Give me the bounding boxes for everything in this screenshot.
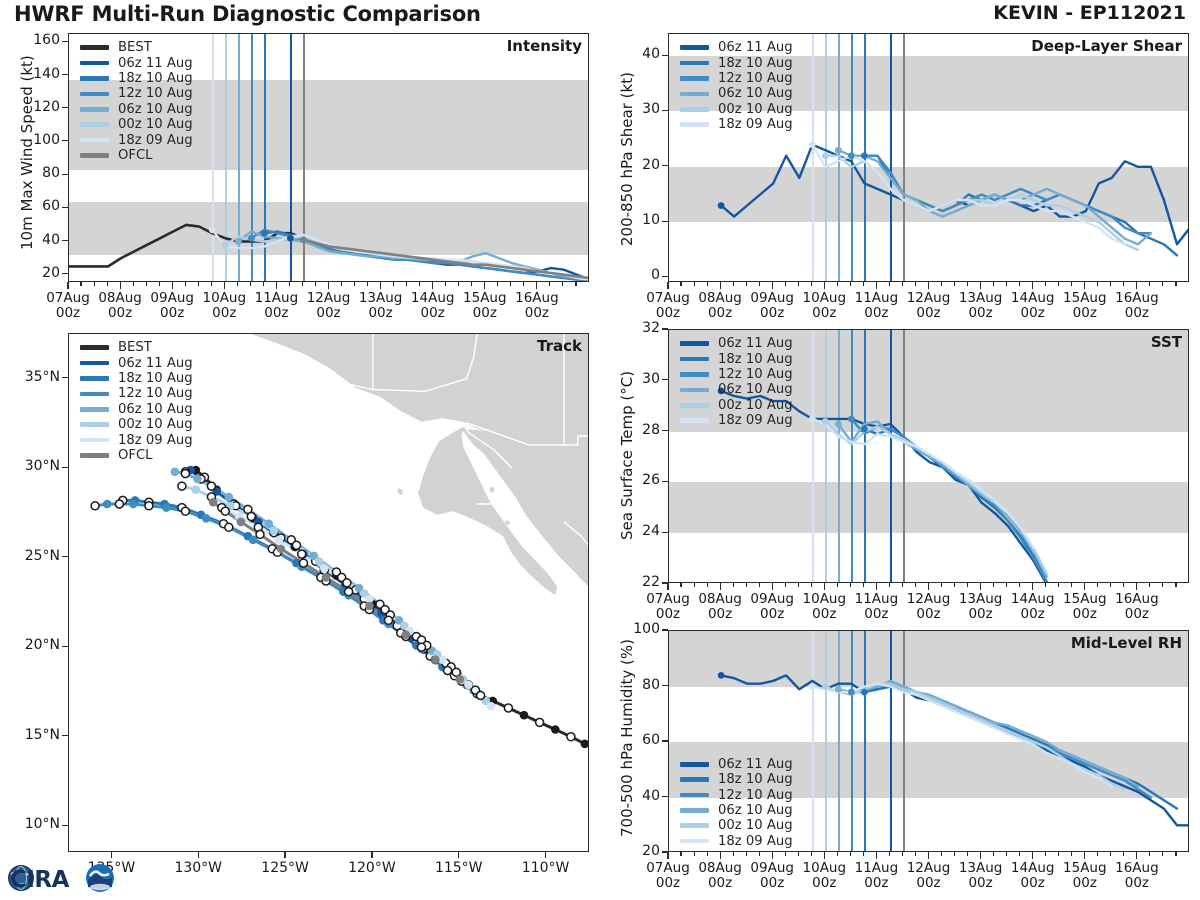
x-tick-mark xyxy=(720,852,721,859)
legend-label: 06z 11 Aug xyxy=(718,336,793,351)
x-tick-minor xyxy=(759,282,760,286)
init-marker xyxy=(822,418,829,425)
init-marker xyxy=(835,421,842,428)
x-tick-minor xyxy=(1162,852,1163,856)
legend-swatch xyxy=(80,453,109,458)
x-tick-mark xyxy=(224,282,225,289)
x-tick-minor xyxy=(497,282,498,286)
y-tick-mark xyxy=(62,41,68,42)
x-tick-minor xyxy=(1058,852,1059,856)
track-marker-open xyxy=(115,500,123,508)
legend-label: 06z 11 Aug xyxy=(718,757,793,772)
x-tick-minor xyxy=(1110,852,1111,856)
legend-item: 12z 10 Aug xyxy=(680,787,793,802)
track-marker-filled xyxy=(487,702,496,711)
y-tick-label: 20 xyxy=(10,265,60,281)
legend-swatch xyxy=(80,45,109,50)
x-tick-mark xyxy=(432,282,433,289)
x-tick-mark xyxy=(980,852,981,859)
init-marker xyxy=(861,152,868,159)
x-tick-minor xyxy=(1149,583,1150,587)
x-tick-minor xyxy=(1058,282,1059,286)
x-tick-minor xyxy=(850,852,851,856)
track-marker-filled xyxy=(315,557,324,566)
lat-tick-mark xyxy=(62,735,68,736)
init-marker xyxy=(822,683,829,690)
track-marker-filled xyxy=(320,564,329,573)
x-tick-minor xyxy=(1019,282,1020,286)
legend-item: 06z 11 Aug xyxy=(680,757,793,772)
y-tick-mark xyxy=(62,174,68,175)
x-tick-mark xyxy=(1032,583,1033,590)
track-marker-filled xyxy=(202,514,211,523)
x-tick-label: 16Aug00z xyxy=(1105,592,1169,622)
x-tick-minor xyxy=(915,852,916,856)
x-tick-minor xyxy=(1097,282,1098,286)
x-tick-minor xyxy=(419,282,420,286)
x-tick-day: 10Aug xyxy=(803,290,847,306)
x-tick-mark xyxy=(667,852,668,859)
legend-swatch xyxy=(680,418,709,423)
y-tick-mark xyxy=(662,796,668,797)
x-tick-minor xyxy=(759,583,760,587)
lon-tick-label: 125°W xyxy=(245,861,325,877)
x-tick-minor xyxy=(941,282,942,286)
x-tick-hour: 00z xyxy=(1125,305,1149,321)
x-tick-minor xyxy=(837,583,838,587)
legend-item: 18z 10 Aug xyxy=(80,371,193,386)
x-tick-minor xyxy=(1162,583,1163,587)
x-tick-minor xyxy=(1175,852,1176,856)
legend-item: 12z 10 Aug xyxy=(680,367,793,382)
x-tick-minor xyxy=(733,852,734,856)
track-marker-filled xyxy=(162,503,171,512)
track-marker-open xyxy=(207,482,215,490)
x-tick-minor xyxy=(967,852,968,856)
legend-label: 18z 10 Aug xyxy=(718,772,793,787)
x-tick-mark xyxy=(276,282,277,289)
x-tick-minor xyxy=(889,852,890,856)
x-tick-minor xyxy=(1045,852,1046,856)
track-marker-filled xyxy=(129,500,138,509)
x-tick-mark xyxy=(928,583,929,590)
x-tick-label: 16Aug00z xyxy=(1105,291,1169,321)
y-tick-label: 22 xyxy=(610,574,660,590)
init-marker xyxy=(861,689,868,696)
lat-tick-label: 20°N xyxy=(2,637,60,653)
x-tick-day: 08Aug xyxy=(698,290,742,306)
legend-item: 18z 09 Aug xyxy=(680,833,793,848)
legend-item: BEST xyxy=(80,340,193,355)
x-tick-hour: 00z xyxy=(812,875,836,891)
x-tick-hour: 00z xyxy=(1021,606,1045,622)
y-tick-mark xyxy=(62,240,68,241)
x-tick-hour: 00z xyxy=(968,305,992,321)
track-marker-filled xyxy=(192,485,201,494)
y-axis-label-shear: 200-850 hPa Shear (kt) xyxy=(618,72,636,246)
x-tick-mark xyxy=(876,852,877,859)
y-tick-mark xyxy=(662,328,668,329)
legend-label: 06z 10 Aug xyxy=(118,102,193,117)
x-tick-minor xyxy=(185,282,186,286)
track-marker-open xyxy=(477,692,485,700)
x-tick-day: 07Aug xyxy=(646,860,690,876)
x-tick-minor xyxy=(1110,583,1111,587)
init-marker xyxy=(861,426,868,433)
x-tick-day: 16Aug xyxy=(1115,290,1159,306)
x-tick-minor xyxy=(1110,282,1111,286)
x-tick-day: 13Aug xyxy=(359,290,403,306)
legend-item: BEST xyxy=(80,40,193,55)
legend-label: 06z 11 Aug xyxy=(118,356,193,371)
track-marker-open xyxy=(536,718,544,726)
legend-label: 18z 10 Aug xyxy=(718,56,793,71)
legend-label: 06z 11 Aug xyxy=(118,56,193,71)
track-marker-filled xyxy=(464,681,473,690)
x-tick-hour: 00z xyxy=(1125,875,1149,891)
x-tick-minor xyxy=(211,282,212,286)
init-marker xyxy=(835,686,842,693)
x-tick-minor xyxy=(733,583,734,587)
track-marker-open xyxy=(225,523,233,531)
track-marker-filled xyxy=(171,468,180,477)
lat-tick-mark xyxy=(62,377,68,378)
x-tick-mark xyxy=(720,282,721,289)
track-marker-open xyxy=(343,579,351,587)
x-tick-minor xyxy=(1019,852,1020,856)
init-marker xyxy=(848,152,855,159)
x-tick-minor xyxy=(863,852,864,856)
x-tick-minor xyxy=(94,282,95,286)
x-tick-hour: 00z xyxy=(916,875,940,891)
legend-item: 06z 11 Aug xyxy=(80,355,193,370)
track-marker-open xyxy=(345,588,353,596)
x-tick-hour: 00z xyxy=(160,305,184,321)
series-06z-11-aug xyxy=(721,145,1189,245)
y-tick-mark xyxy=(662,740,668,741)
init-marker xyxy=(848,689,855,696)
x-tick-minor xyxy=(1058,583,1059,587)
x-tick-mark xyxy=(67,282,68,289)
legend-swatch xyxy=(680,403,709,408)
y-tick-label: 100 xyxy=(610,621,660,637)
legend-item: 06z 10 Aug xyxy=(680,803,793,818)
x-tick-mark xyxy=(536,282,537,289)
y-tick-mark xyxy=(662,110,668,111)
legend-label: 18z 09 Aug xyxy=(718,413,793,428)
init-marker xyxy=(718,202,725,209)
x-tick-minor xyxy=(863,583,864,587)
lon-tick-mark xyxy=(458,852,459,858)
legend-item: 18z 09 Aug xyxy=(680,413,793,428)
x-tick-minor xyxy=(746,583,747,587)
init-marker xyxy=(287,235,294,242)
x-tick-mark xyxy=(1032,282,1033,289)
init-marker xyxy=(209,226,216,233)
x-tick-hour: 00z xyxy=(760,606,784,622)
legend-item: 00z 10 Aug xyxy=(680,398,793,413)
legend-label: 06z 10 Aug xyxy=(718,86,793,101)
legend-item: 12z 10 Aug xyxy=(680,71,793,86)
x-tick-day: 14Aug xyxy=(1011,591,1055,607)
series-18z-10-aug xyxy=(864,429,1046,581)
x-tick-hour: 00z xyxy=(968,875,992,891)
legend-item: 00z 10 Aug xyxy=(680,818,793,833)
series-18z-09-aug xyxy=(812,419,1033,549)
x-tick-mark xyxy=(980,282,981,289)
legend-swatch xyxy=(680,762,709,767)
x-tick-minor xyxy=(523,282,524,286)
legend-item: 06z 11 Aug xyxy=(680,40,793,55)
x-tick-minor xyxy=(954,852,955,856)
x-tick-hour: 00z xyxy=(1021,305,1045,321)
y-tick-mark xyxy=(62,273,68,274)
x-tick-minor xyxy=(941,583,942,587)
x-tick-mark xyxy=(876,282,877,289)
lat-tick-mark xyxy=(62,556,68,557)
lon-tick-label: 120°W xyxy=(332,861,412,877)
legend-label: 18z 10 Aug xyxy=(118,371,193,386)
track-marker-filled xyxy=(402,630,411,639)
legend-swatch xyxy=(80,76,109,81)
legend-item: 18z 09 Aug xyxy=(80,132,193,147)
x-tick-mark xyxy=(1084,583,1085,590)
legend-item: OFCL xyxy=(80,148,193,163)
x-tick-hour: 00z xyxy=(1021,875,1045,891)
x-tick-day: 08Aug xyxy=(698,860,742,876)
track-marker-filled xyxy=(581,740,590,749)
track-marker-filled xyxy=(520,711,529,720)
lon-tick-mark xyxy=(545,852,546,858)
series-06z-10-aug xyxy=(838,421,1046,576)
x-tick-minor xyxy=(863,282,864,286)
x-tick-minor xyxy=(562,282,563,286)
track-marker-open xyxy=(385,616,393,624)
y-tick-mark xyxy=(662,276,668,277)
x-tick-label: 16Aug00z xyxy=(1105,861,1169,891)
x-tick-mark xyxy=(1136,583,1137,590)
legend-item: 06z 10 Aug xyxy=(80,102,193,117)
x-tick-minor xyxy=(680,282,681,286)
legend-label: 06z 11 Aug xyxy=(718,40,793,55)
series-12z-10-aug xyxy=(851,419,1046,582)
x-tick-minor xyxy=(250,282,251,286)
init-marker xyxy=(300,236,307,243)
x-tick-minor xyxy=(785,852,786,856)
x-tick-minor xyxy=(798,583,799,587)
x-tick-minor xyxy=(1045,282,1046,286)
init-marker xyxy=(718,672,725,679)
legend-swatch xyxy=(680,839,709,844)
y-tick-mark xyxy=(662,481,668,482)
x-tick-minor xyxy=(1071,583,1072,587)
x-tick-minor xyxy=(1149,282,1150,286)
cira-badge-icon xyxy=(86,864,114,892)
x-tick-minor xyxy=(837,852,838,856)
x-tick-minor xyxy=(694,583,695,587)
x-tick-minor xyxy=(889,282,890,286)
track-marker-open xyxy=(145,502,153,510)
x-tick-minor xyxy=(1097,583,1098,587)
legend-item: 00z 10 Aug xyxy=(80,417,193,432)
track-marker-filled xyxy=(237,518,246,527)
legend-swatch xyxy=(680,107,709,112)
x-tick-hour: 00z xyxy=(812,606,836,622)
lat-tick-label: 35°N xyxy=(2,369,60,385)
x-tick-day: 12Aug xyxy=(907,591,951,607)
track-marker-open xyxy=(452,668,460,676)
x-tick-minor xyxy=(107,282,108,286)
track-marker-filled xyxy=(275,536,284,545)
x-tick-label: 16Aug00z xyxy=(505,291,569,321)
track-marker-filled xyxy=(322,573,331,582)
x-tick-minor xyxy=(785,583,786,587)
track-marker-filled xyxy=(193,475,202,484)
track-marker-filled xyxy=(209,498,218,507)
x-tick-hour: 00z xyxy=(1125,606,1149,622)
legend-swatch xyxy=(80,438,109,443)
x-tick-mark xyxy=(772,852,773,859)
x-tick-mark xyxy=(824,583,825,590)
x-tick-minor xyxy=(889,583,890,587)
x-tick-minor xyxy=(80,282,81,286)
x-tick-day: 14Aug xyxy=(1011,860,1055,876)
lon-tick-mark xyxy=(198,852,199,858)
lat-tick-label: 15°N xyxy=(2,727,60,743)
x-tick-day: 16Aug xyxy=(1115,860,1159,876)
cira-logo: CIRA xyxy=(4,856,122,898)
track-marker-open xyxy=(181,507,189,515)
legend-item: 18z 10 Aug xyxy=(680,772,793,787)
x-tick-day: 08Aug xyxy=(698,591,742,607)
x-tick-minor xyxy=(967,282,968,286)
x-tick-minor xyxy=(471,282,472,286)
x-tick-hour: 00z xyxy=(656,606,680,622)
x-tick-mark xyxy=(928,282,929,289)
x-tick-minor xyxy=(707,852,708,856)
lat-tick-label: 10°N xyxy=(2,816,60,832)
x-tick-day: 09Aug xyxy=(150,290,194,306)
x-tick-day: 16Aug xyxy=(515,290,559,306)
lon-tick-mark xyxy=(284,852,285,858)
track-marker-open xyxy=(504,704,512,712)
legend-swatch xyxy=(80,392,109,397)
x-tick-hour: 00z xyxy=(473,305,497,321)
track-marker-open xyxy=(567,733,575,741)
x-tick-hour: 00z xyxy=(316,305,340,321)
track-marker-filled xyxy=(225,493,234,502)
x-tick-day: 09Aug xyxy=(750,860,794,876)
x-tick-mark xyxy=(928,852,929,859)
x-tick-mark xyxy=(328,282,329,289)
x-tick-day: 10Aug xyxy=(803,860,847,876)
legend-item: 00z 10 Aug xyxy=(80,117,193,132)
x-tick-minor xyxy=(367,282,368,286)
page-title: HWRF Multi-Run Diagnostic Comparison xyxy=(14,2,481,26)
legend-item: 18z 09 Aug xyxy=(680,117,793,132)
x-tick-minor xyxy=(1149,852,1150,856)
x-tick-mark xyxy=(720,583,721,590)
x-tick-day: 13Aug xyxy=(959,290,1003,306)
track-marker-open xyxy=(300,559,308,567)
x-tick-mark xyxy=(1032,852,1033,859)
x-tick-minor xyxy=(549,282,550,286)
x-tick-minor xyxy=(1071,852,1072,856)
y-tick-label: 32 xyxy=(610,320,660,336)
legend-swatch xyxy=(680,45,709,50)
x-tick-minor xyxy=(1019,583,1020,587)
x-tick-hour: 00z xyxy=(656,305,680,321)
x-tick-day: 11Aug xyxy=(855,290,899,306)
track-marker-open xyxy=(247,513,255,521)
x-tick-minor xyxy=(785,282,786,286)
legend-item: 06z 10 Aug xyxy=(80,402,193,417)
init-marker xyxy=(261,230,268,237)
legend-swatch xyxy=(680,823,709,828)
y-tick-label: 160 xyxy=(10,32,60,48)
x-tick-day: 11Aug xyxy=(255,290,299,306)
lat-tick-mark xyxy=(62,646,68,647)
x-tick-hour: 00z xyxy=(968,606,992,622)
x-tick-mark xyxy=(824,852,825,859)
x-tick-hour: 00z xyxy=(760,305,784,321)
x-tick-mark xyxy=(380,282,381,289)
y-tick-mark xyxy=(62,140,68,141)
track-marker-filled xyxy=(264,519,273,528)
track-marker-filled xyxy=(270,527,279,536)
legend-swatch xyxy=(680,793,709,798)
x-tick-day: 12Aug xyxy=(907,290,951,306)
x-tick-day: 07Aug xyxy=(646,290,690,306)
track-marker-open xyxy=(91,502,99,510)
x-tick-mark xyxy=(667,583,668,590)
x-tick-hour: 00z xyxy=(864,875,888,891)
x-tick-minor xyxy=(733,282,734,286)
y-tick-label: 0 xyxy=(610,267,660,283)
track-marker-filled xyxy=(365,602,374,611)
x-tick-mark xyxy=(824,282,825,289)
y-tick-mark xyxy=(662,532,668,533)
legend-label: BEST xyxy=(118,40,152,55)
x-tick-mark xyxy=(667,282,668,289)
x-tick-hour: 00z xyxy=(1073,305,1097,321)
track-marker-open xyxy=(444,667,452,675)
x-tick-minor xyxy=(694,282,695,286)
init-marker xyxy=(248,235,255,242)
legend-label: 00z 10 Aug xyxy=(718,398,793,413)
x-tick-minor xyxy=(746,852,747,856)
x-tick-minor xyxy=(954,282,955,286)
x-tick-mark xyxy=(120,282,121,289)
init-marker xyxy=(809,416,816,423)
x-tick-minor xyxy=(1006,583,1007,587)
x-tick-hour: 00z xyxy=(525,305,549,321)
storm-title: KEVIN - EP112021 xyxy=(993,2,1186,24)
init-marker xyxy=(809,683,816,690)
legend-label: 00z 10 Aug xyxy=(718,102,793,117)
x-tick-minor xyxy=(798,852,799,856)
x-tick-minor xyxy=(1097,852,1098,856)
x-tick-day: 07Aug xyxy=(646,591,690,607)
x-tick-minor xyxy=(954,583,955,587)
legend-swatch xyxy=(80,122,109,127)
x-tick-hour: 00z xyxy=(1073,875,1097,891)
legend-swatch xyxy=(680,372,709,377)
legend-item: 18z 10 Aug xyxy=(680,55,793,70)
x-tick-hour: 00z xyxy=(108,305,132,321)
x-tick-minor xyxy=(1006,852,1007,856)
x-tick-mark xyxy=(876,583,877,590)
